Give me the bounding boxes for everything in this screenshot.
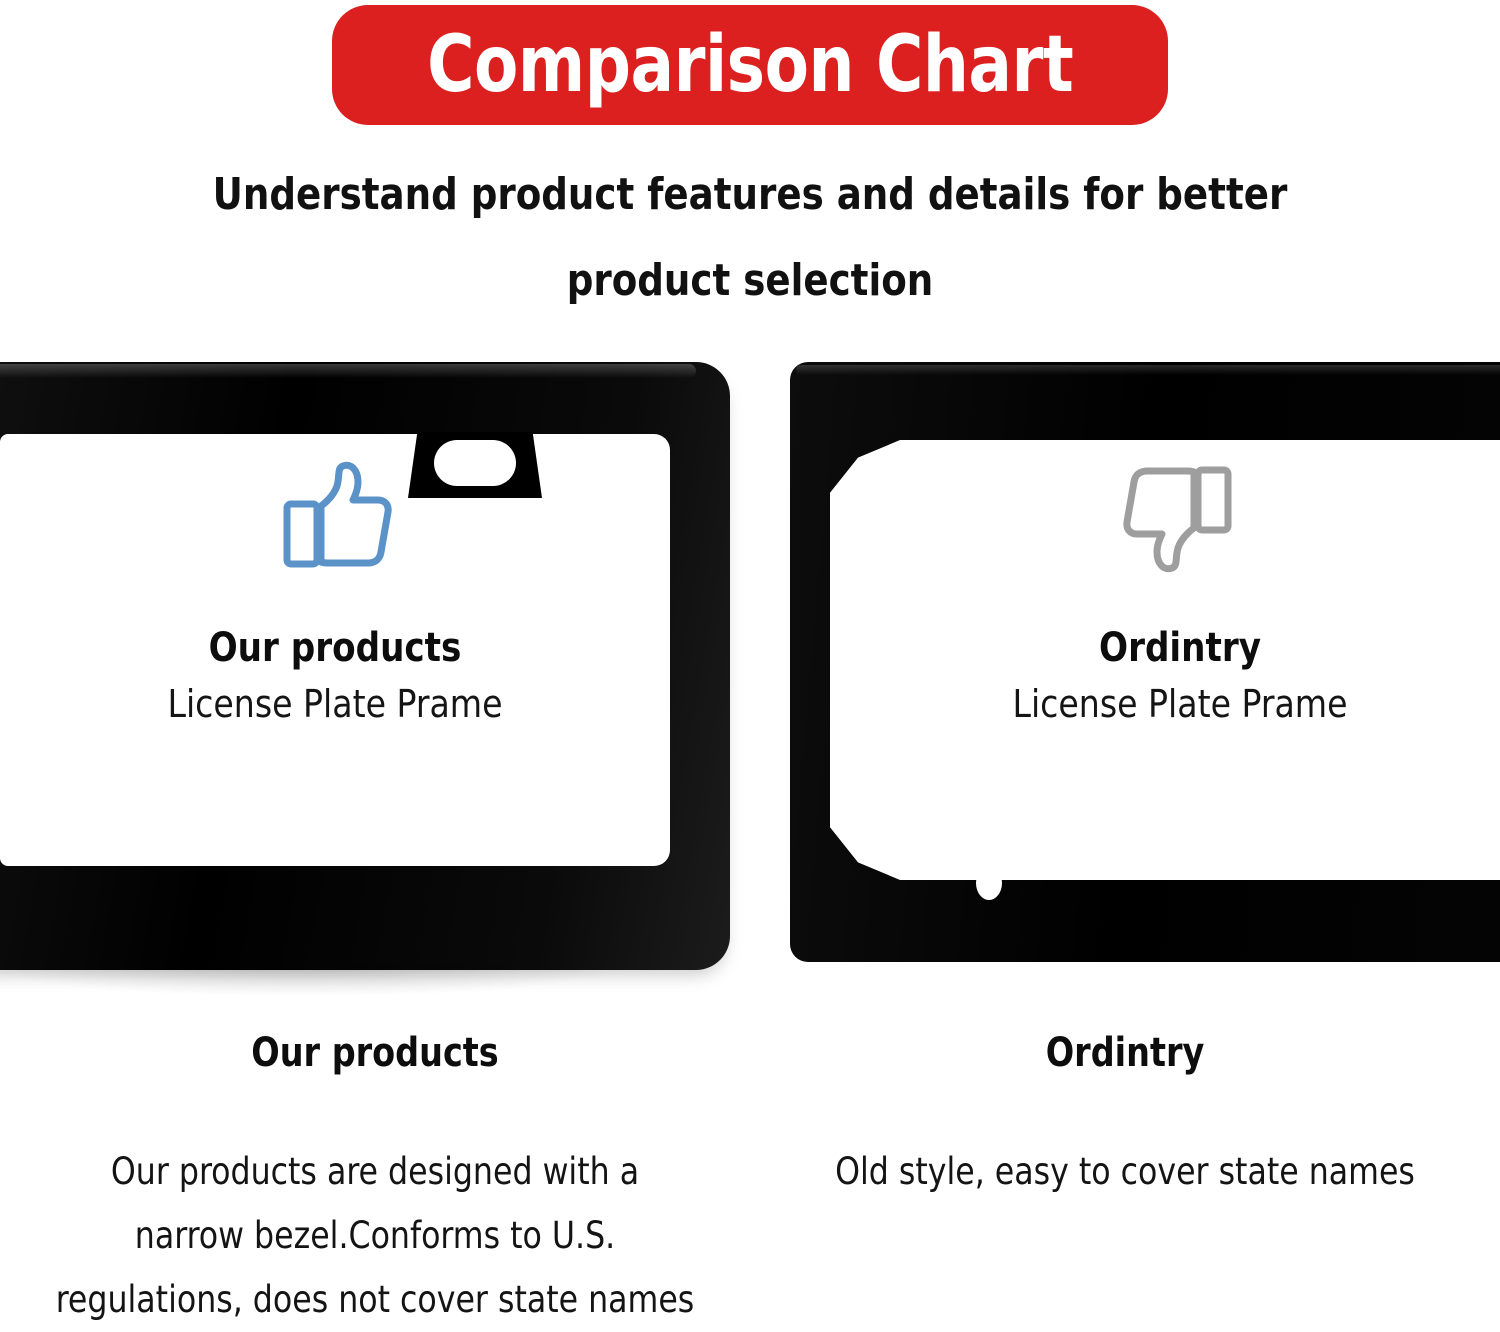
plate-title-right: Ordintry [848,626,1500,670]
caption-column-ordintry: Ordintry Old style, easy to cover state … [750,1030,1500,1310]
title-banner: Comparison Chart [332,5,1168,125]
plate-content-right: Ordintry License Plate Prame [830,458,1500,726]
thumbs-up-icon [0,458,670,580]
thumbs-down-icon [830,458,1500,580]
caption-line: regulations, does not cover state names [56,1278,695,1321]
product-image-our-products: Our products License Plate Prame [0,362,730,970]
caption-body-ordintry: Old style, easy to cover state names [801,1140,1449,1204]
plate-title-left: Our products [17,626,654,670]
frame-shadow-left [0,962,630,996]
plate-content-left: Our products License Plate Prame [0,458,670,726]
product-showcase: Our products License Plate Prame Ordintr… [0,340,1500,1010]
caption-line: Our products are designed with a [111,1150,639,1193]
subtitle-line-1: Understand product features and details … [45,152,1455,238]
caption-line: Old style, easy to cover state names [835,1150,1415,1193]
subtitle-line-2: product selection [45,238,1455,324]
product-image-ordintry: Ordintry License Plate Prame [790,362,1500,962]
plate-subtitle-left: License Plate Prame [10,684,660,726]
mounting-hole-bottom-right [976,866,1002,900]
caption-heading-our-products: Our products [58,1030,692,1076]
plate-subtitle-right: License Plate Prame [841,684,1500,726]
caption-heading-ordintry: Ordintry [808,1030,1442,1076]
caption-body-our-products: Our products are designed with a narrow … [51,1140,699,1332]
caption-column-our-products: Our products Our products are designed w… [0,1030,750,1310]
caption-section: Our products Our products are designed w… [0,1030,1500,1310]
subtitle: Understand product features and details … [45,152,1455,324]
caption-line: narrow bezel.Conforms to U.S. [135,1214,615,1257]
page-title: Comparison Chart [427,26,1073,104]
